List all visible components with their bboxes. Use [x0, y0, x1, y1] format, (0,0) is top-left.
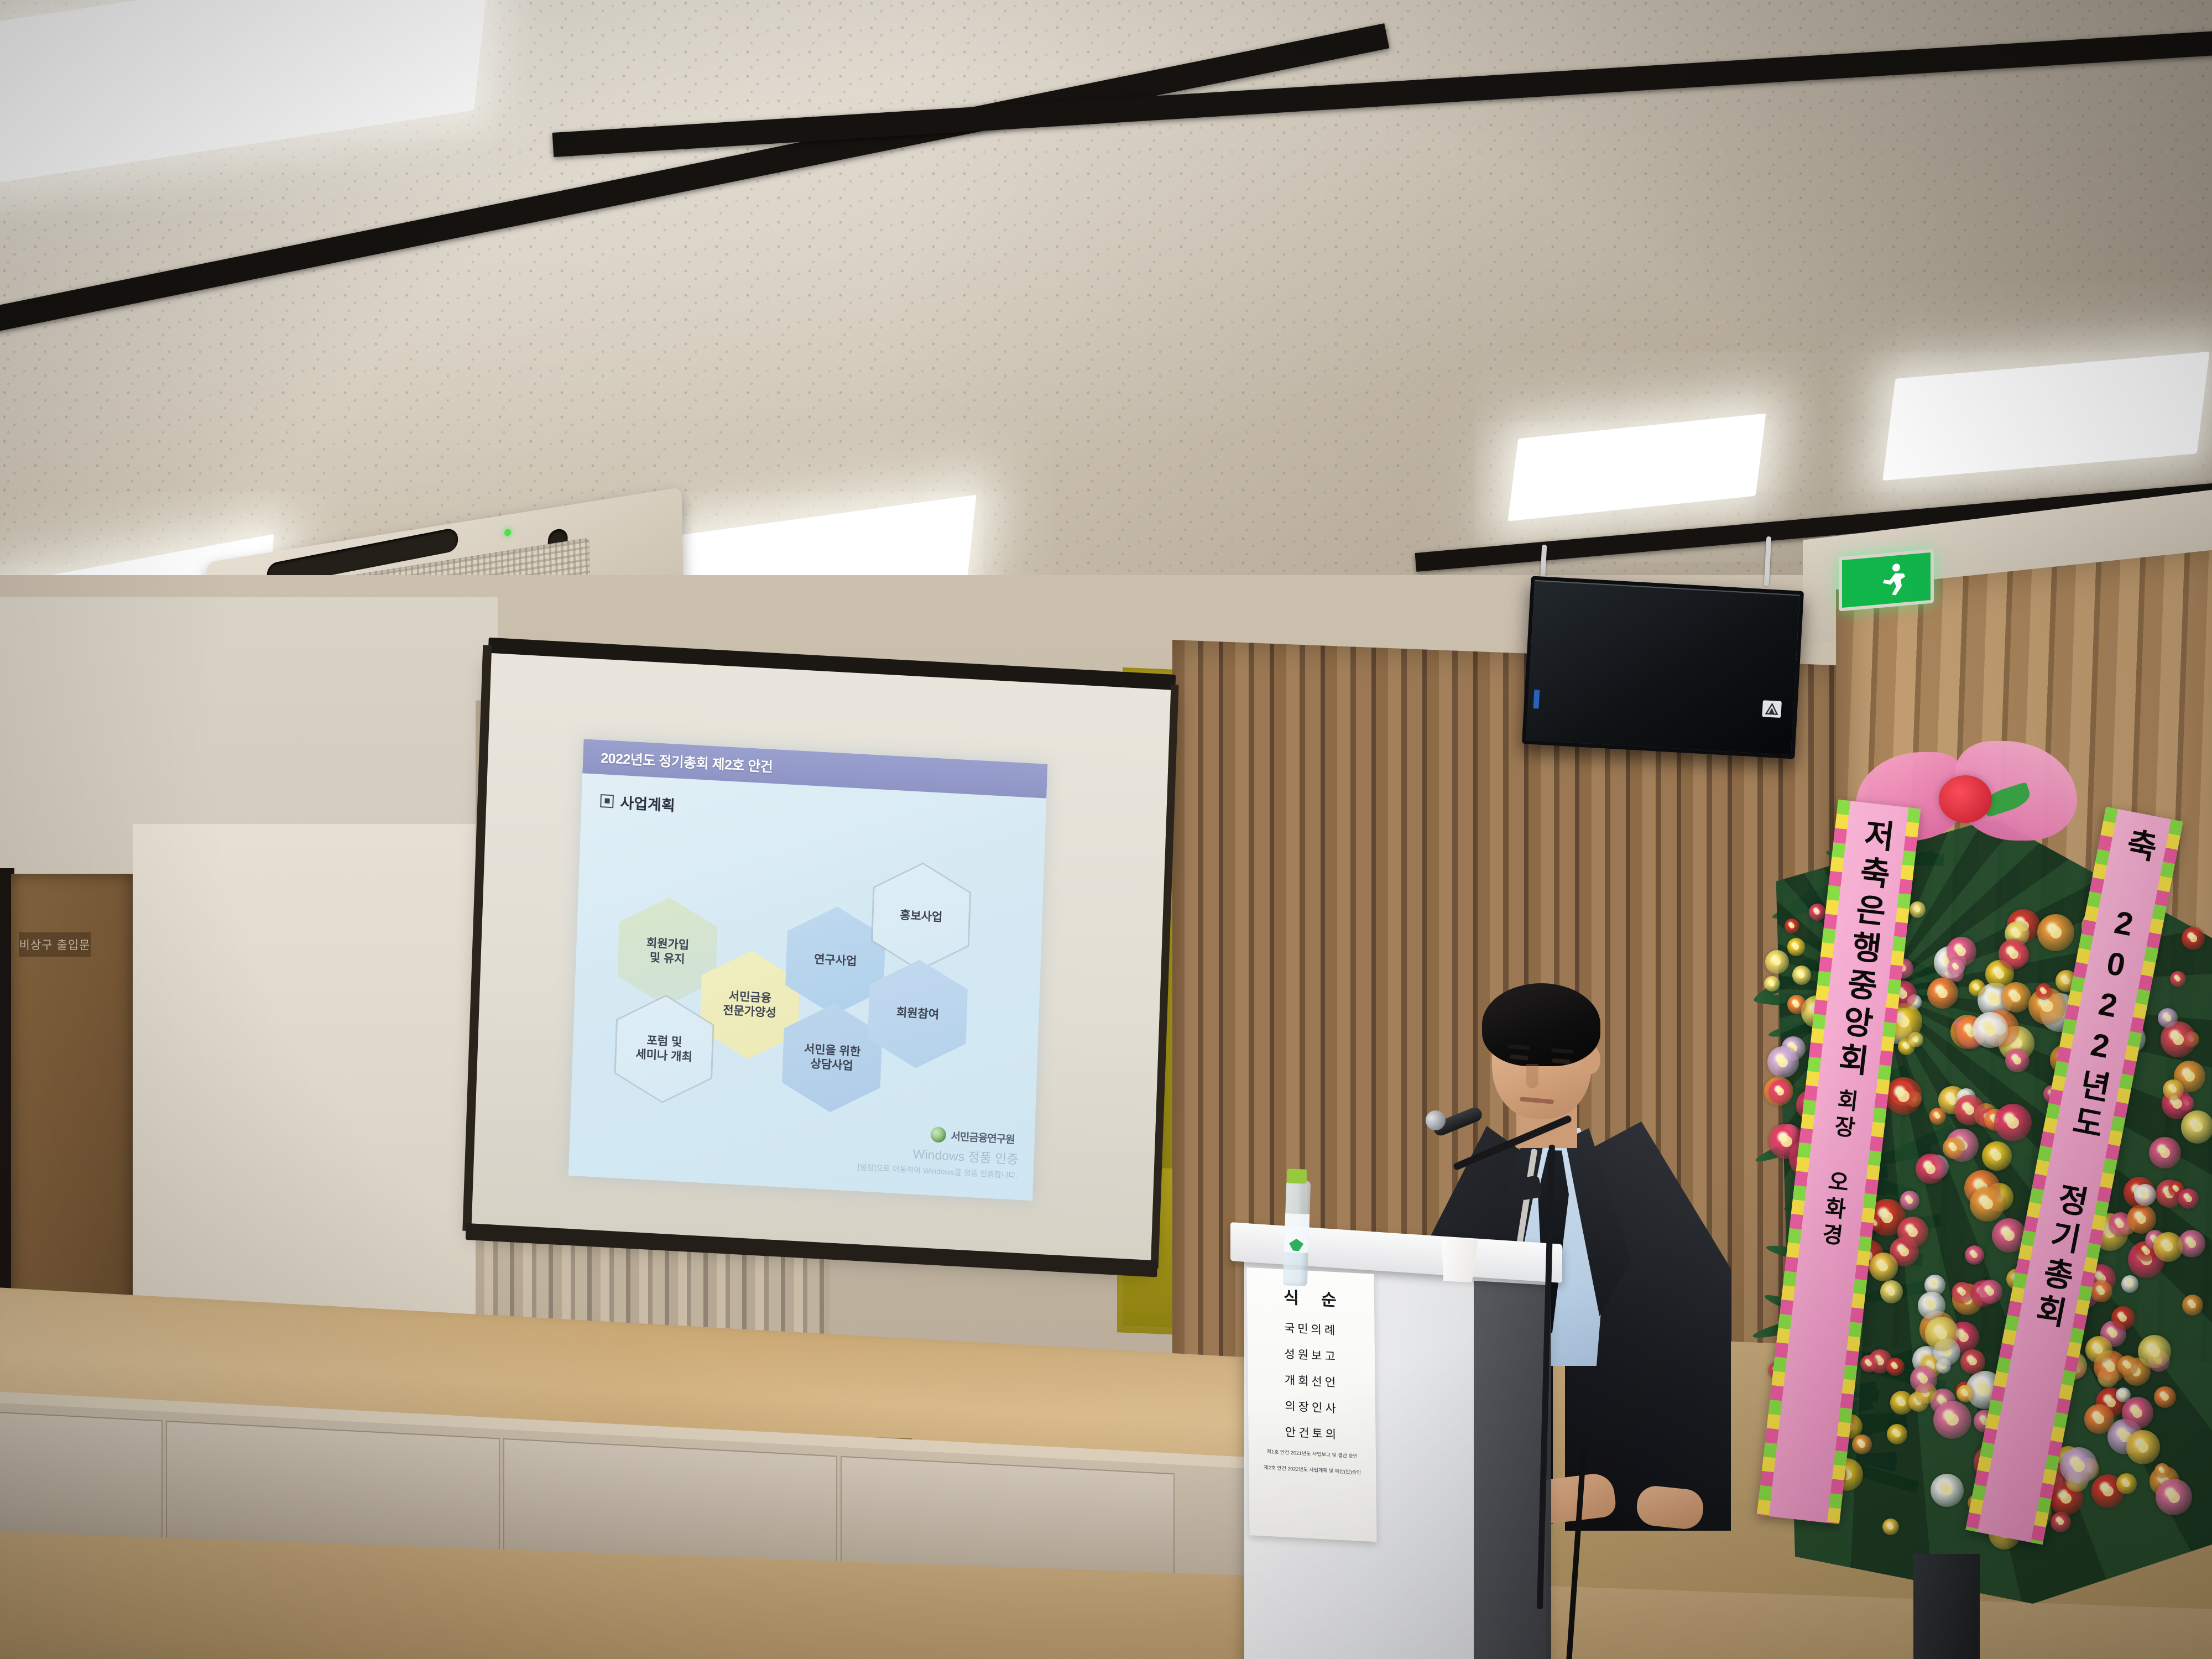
wreath-flower — [1765, 950, 1788, 973]
wreath-flower — [1948, 959, 1965, 976]
wreath-flower — [1994, 1104, 2032, 1141]
tv-power-led — [1533, 690, 1540, 709]
slide-header-title: 2022년도 정기총회 제2호 안건 — [601, 747, 773, 776]
presentation-slide: 2022년도 정기총회 제2호 안건 사업계획 회원가입및 유지 서민금융전문가… — [568, 739, 1047, 1201]
logo-text: 서민금융연구원 — [951, 1128, 1015, 1146]
bottle-cap — [1287, 1168, 1307, 1183]
wreath-flower — [1768, 1080, 1792, 1104]
hex-label: 회원참여 — [891, 1005, 943, 1022]
wreath-flower — [2182, 1295, 2203, 1316]
wreath-flower — [1764, 976, 1780, 992]
program-item: 의장인사 — [1248, 1395, 1375, 1418]
program-item: 성원보고 — [1248, 1343, 1375, 1366]
wreath-stand — [1913, 1554, 1980, 1659]
wreath-flower — [1970, 1187, 2005, 1222]
hex-label: 홍보사업 — [895, 908, 947, 925]
wreath-flower — [2149, 1137, 2181, 1169]
wreath-flower — [1787, 995, 1807, 1014]
ac-status-led — [504, 529, 511, 536]
wreath-flower — [2005, 1048, 2030, 1073]
podium: 식 순 국민의례 성원보고 개회선언 의장인사 안건토의 제1호 안건 2021… — [1214, 1233, 1579, 1659]
hex-label: 포럼 및세미나 개최 — [631, 1032, 697, 1065]
program-sign-title: 식 순 — [1255, 1282, 1374, 1313]
wreath-flower — [1809, 904, 1826, 921]
wreath-flower — [2163, 1079, 2183, 1100]
wreath-flower — [1897, 1217, 1928, 1248]
door-sign-label: 비상구 출입문 — [19, 932, 91, 957]
logo-circle-icon — [930, 1126, 946, 1142]
wreath-flower — [2170, 971, 2187, 988]
wreath-flower — [2084, 1404, 2114, 1434]
wreath-flower — [1792, 966, 1811, 984]
wreath-flower — [1957, 1385, 1974, 1402]
bow-knot — [1939, 775, 1992, 823]
wreath-flower — [1952, 1282, 1973, 1303]
wreath-flower — [1910, 901, 1926, 918]
wreath-flower — [1933, 1401, 1971, 1439]
conference-hall-photo: 비상구 출입문 2022년도 정기총회 제2호 안건 — [0, 0, 2212, 1659]
hex-publicity: 홍보사업 — [870, 860, 972, 974]
wreath-flower — [2182, 927, 2204, 950]
bullet-square-icon — [600, 794, 614, 808]
slide-section-title: 사업계획 — [620, 791, 676, 815]
wreath-flower — [1869, 1253, 1898, 1281]
wreath-flower — [1978, 1280, 2002, 1304]
banner-left-sub-text: 회장 오화경 — [1813, 1087, 1863, 1251]
stage-panel — [0, 1412, 163, 1550]
wreath-flower — [2158, 1008, 2178, 1028]
hex-label: 서민금융전문가양성 — [718, 989, 781, 1021]
slide-section-heading: 사업계획 — [600, 790, 676, 815]
wreath-flower — [2001, 982, 2031, 1013]
wreath-flower — [2156, 1479, 2192, 1515]
wreath-flower — [1882, 1519, 1900, 1536]
wreath-flower — [1767, 1046, 1798, 1077]
wreath-flower — [2117, 1355, 2138, 1376]
nose — [1526, 1064, 1538, 1088]
wreath-flower — [1886, 1358, 1905, 1376]
hair — [1482, 983, 1600, 1066]
hex-label: 서민을 위한상담사업 — [799, 1042, 865, 1074]
wreath-flower — [1927, 978, 1958, 1009]
wreath-flower — [1860, 1355, 1878, 1373]
wreath-flower — [1900, 1191, 1919, 1210]
wreath-flower — [1943, 1137, 1965, 1159]
wreath-flower — [1785, 919, 1799, 933]
wreath-flower — [1999, 939, 2028, 969]
program-item: 개회선언 — [1248, 1369, 1375, 1392]
emergency-exit-icon — [1839, 549, 1934, 611]
wreath-flower — [2121, 1275, 2138, 1292]
wreath-flower — [1910, 1366, 1937, 1393]
projection-screen: 2022년도 정기총회 제2호 안건 사업계획 회원가입및 유지 서민금융전문가… — [472, 651, 1171, 1262]
ceiling-mounted-monitor — [1522, 576, 1804, 759]
program-sign: 식 순 국민의례 성원보고 개회선언 의장인사 안건토의 제1호 안건 2021… — [1246, 1267, 1376, 1542]
wreath-flower — [1982, 1141, 2011, 1171]
hex-label: 연구사업 — [810, 952, 862, 969]
wreath-flower — [1887, 1424, 1907, 1444]
wreath-flower — [1965, 1245, 1984, 1265]
hex-label: 회원가입및 유지 — [641, 936, 694, 968]
microphone-joint — [1517, 1175, 1542, 1201]
wreath-flower — [2153, 1232, 2183, 1262]
wreath-flower — [2154, 1386, 2176, 1408]
wreath-flower — [1852, 1434, 1872, 1454]
wreath-flower — [2178, 1188, 2199, 1209]
wreath-flower — [1880, 1280, 1903, 1303]
wall-panel — [133, 824, 476, 1366]
wreath-flower — [2134, 1184, 2157, 1207]
wreath-flower — [1925, 1317, 1959, 1351]
wreath-flower — [2154, 1463, 2170, 1479]
wreath-flower — [2122, 1397, 2153, 1428]
wreath-flower — [2111, 1306, 2135, 1330]
hex-forum-seminar: 포럼 및세미나 개최 — [613, 992, 716, 1106]
wreath-flower — [1885, 1077, 1922, 1115]
wreath-flower — [1918, 1292, 1945, 1319]
slide-header-bar: 2022년도 정기총회 제2호 안건 — [582, 739, 1047, 798]
wreath-flower — [1960, 1349, 1985, 1374]
wreath-flower — [1916, 1154, 1946, 1184]
running-man-icon — [1873, 561, 1912, 597]
wreath-flower — [2037, 914, 2074, 951]
program-footnote-1: 제1호 안건 2021년도 사업보고 및 결산 승인 — [1249, 1447, 1376, 1461]
program-item: 안건토의 — [1248, 1421, 1375, 1444]
wreath-flower — [1929, 1108, 1946, 1124]
wreath-flower — [2085, 1336, 2112, 1363]
wreath-flower — [2127, 1204, 2156, 1234]
wreath-flower — [2181, 1110, 2212, 1144]
wreath-flower — [1931, 1474, 1964, 1507]
wreath-flower — [2126, 1430, 2161, 1464]
wreath-flower — [2090, 1280, 2112, 1302]
congratulatory-flower-wreath: 저축은행중앙회 회장 오화경 축 2022년도 정기총회 — [1747, 735, 2212, 1659]
program-footnote-2: 제2호 안건 2022년도 사업계획 및 예산(안)승인 — [1249, 1463, 1376, 1477]
wreath-flower — [1787, 938, 1806, 956]
wreath-flower — [1969, 979, 1986, 997]
wreath-flower — [2116, 1473, 2137, 1494]
tv-brand-logo-icon — [1762, 700, 1782, 718]
program-item: 국민의례 — [1247, 1317, 1374, 1340]
